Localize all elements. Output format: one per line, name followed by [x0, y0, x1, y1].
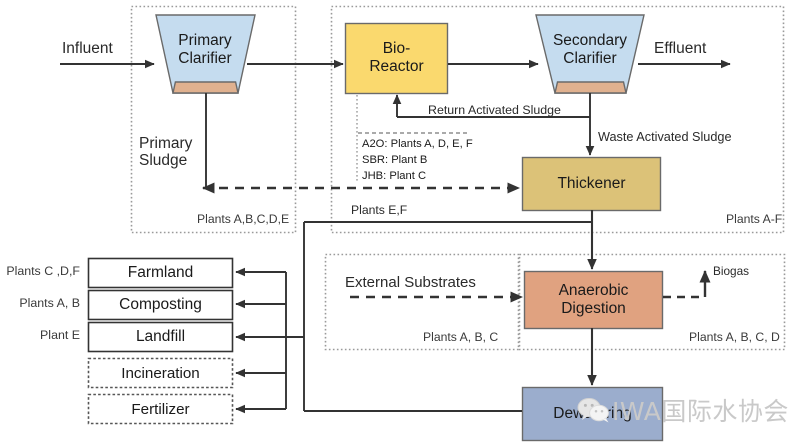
group-label-digestion: Plants A, B, C, D	[689, 330, 780, 344]
group-label-secondary: Plants A-F	[726, 212, 782, 226]
plant-label-farmland: Plants C ,D,F	[0, 264, 80, 278]
disposal-label-farmland: Farmland	[89, 259, 232, 287]
label-effluent: Effluent	[654, 40, 706, 57]
primary-clarifier-label-line2: Clarifier	[178, 50, 231, 68]
thickener-label: Thickener	[523, 158, 660, 210]
group-label-external-substrates: Plants A, B, C	[423, 330, 498, 344]
disposal-label-fertilizer: Fertilizer	[89, 395, 232, 423]
primary-clarifier-sludge-zone	[173, 82, 238, 93]
annotation-line-sbr: SBR: Plant B	[362, 153, 473, 169]
secondary-clarifier-label: Secondary Clarifier	[531, 22, 649, 78]
disposal-label-incineration: Incineration	[89, 359, 232, 387]
process-flow-diagram: Influent Effluent Primary Clarifier Bio-…	[0, 0, 791, 443]
label-primary-sludge-line2: Sludge	[139, 152, 192, 169]
secondary-clarifier-label-line2: Clarifier	[563, 50, 616, 68]
anaerobic-digestion-label-line2: Digestion	[561, 300, 626, 318]
label-plants-ef-line: Plants E,F	[351, 204, 407, 218]
label-waste-activated-sludge: Waste Activated Sludge	[598, 130, 732, 144]
annotation-line-a2o: A2O: Plants A, D, E, F	[362, 137, 473, 153]
label-biogas: Biogas	[713, 265, 749, 278]
label-influent: Influent	[62, 40, 113, 57]
bio-reactor-label-line2: Reactor	[369, 58, 423, 76]
bio-reactor-label: Bio- Reactor	[346, 28, 447, 88]
secondary-clarifier-sludge-zone	[555, 82, 626, 93]
bio-reactor-label-line1: Bio-	[383, 40, 411, 58]
dewatering-label: Dewatering	[523, 388, 662, 440]
secondary-clarifier-label-line1: Secondary	[553, 32, 627, 50]
anaerobic-digestion-label-line1: Anaerobic	[559, 282, 629, 300]
label-primary-sludge-line1: Primary	[139, 135, 192, 152]
plant-label-composting: Plants A, B	[0, 296, 80, 310]
group-label-primary: Plants A,B,C,D,E	[197, 212, 289, 226]
disposal-label-composting: Composting	[89, 291, 232, 319]
disposal-label-landfill: Landfill	[89, 323, 232, 351]
plant-label-landfill: Plant E	[0, 328, 80, 342]
primary-clarifier-label: Primary Clarifier	[150, 22, 260, 78]
label-primary-sludge: Primary Sludge	[139, 135, 192, 170]
label-return-activated-sludge: Return Activated Sludge	[428, 104, 561, 118]
primary-clarifier-label-line1: Primary	[178, 32, 231, 50]
process-configuration-annotation: A2O: Plants A, D, E, F SBR: Plant B JHB:…	[362, 137, 473, 185]
label-external-substrates: External Substrates	[345, 275, 476, 292]
anaerobic-digestion-label: Anaerobic Digestion	[525, 274, 662, 326]
annotation-line-jhb: JHB: Plant C	[362, 169, 473, 185]
